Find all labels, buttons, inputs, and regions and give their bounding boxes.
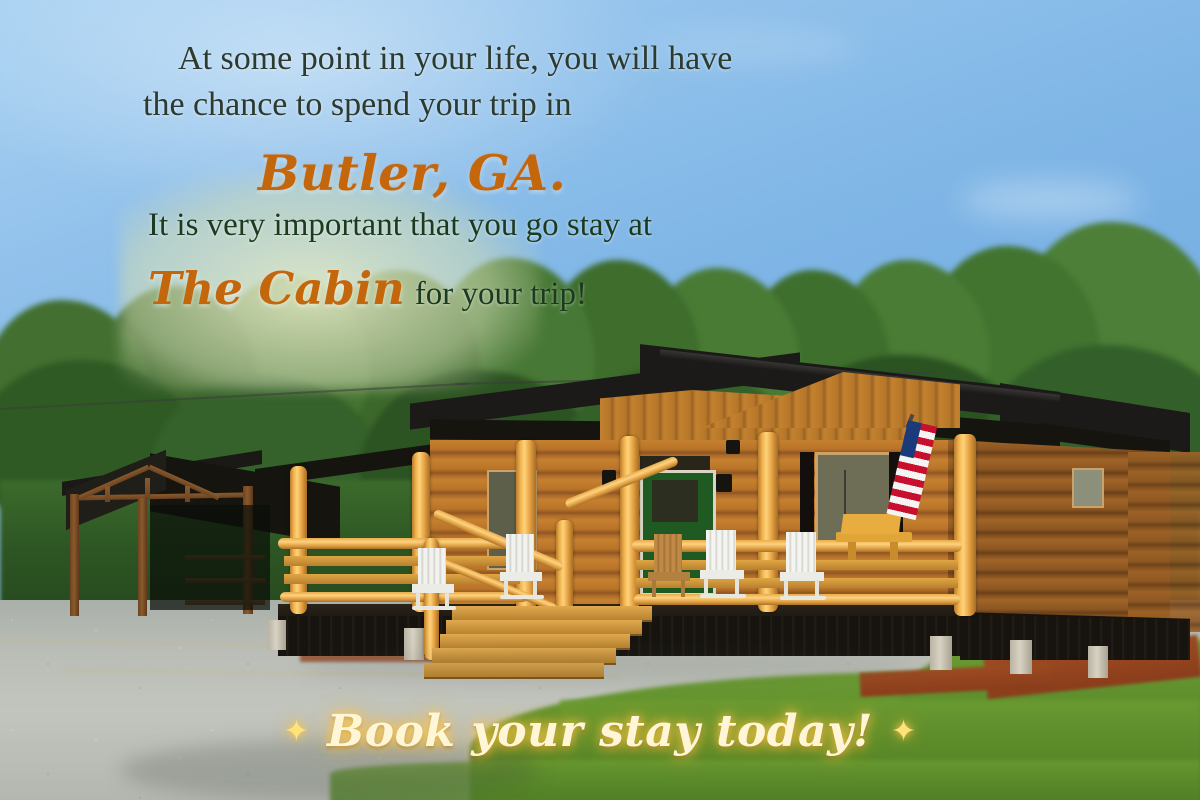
headline-line-4: It is very important that you go stay at [148, 207, 652, 244]
porch-light [726, 440, 740, 454]
concrete-pier [930, 636, 952, 670]
location-name: Butler, GA. [258, 144, 566, 202]
headline-line-2: the chance to spend your trip in [143, 86, 572, 124]
rocking-chair [700, 530, 746, 600]
cta-block[interactable]: ✦ Book your stay today! ✦ [0, 706, 1200, 757]
concrete-pier [268, 620, 286, 650]
concrete-pier [1088, 646, 1108, 678]
rocking-chair [500, 534, 544, 600]
side-window [1072, 468, 1104, 508]
sparkle-star-right-icon: ✦ [891, 717, 916, 747]
rocking-chair [780, 532, 826, 602]
deck-skirting-texture [960, 614, 1190, 660]
sparkle-star-left-icon: ✦ [284, 717, 309, 747]
headline-line-1: At some point in your life, you will hav… [178, 40, 732, 78]
railing-board [284, 556, 520, 566]
property-line: The Cabin for your trip! [148, 262, 587, 315]
cta-text[interactable]: Book your stay today! [327, 706, 873, 757]
cabin-shadow [300, 650, 920, 684]
porch-railing [280, 592, 528, 602]
cabin-rear-wall [1128, 452, 1200, 632]
door-glass [652, 480, 698, 522]
porch-log-post [954, 434, 976, 616]
property-line-tail: for your trip! [415, 276, 587, 313]
rocking-chair [648, 534, 692, 600]
concrete-pier [1010, 640, 1032, 674]
rocking-chair [412, 548, 456, 610]
promo-image: At some point in your life, you will hav… [0, 0, 1200, 800]
property-name: The Cabin [148, 262, 405, 315]
window-shutter [800, 452, 814, 538]
porch-light [716, 474, 732, 492]
